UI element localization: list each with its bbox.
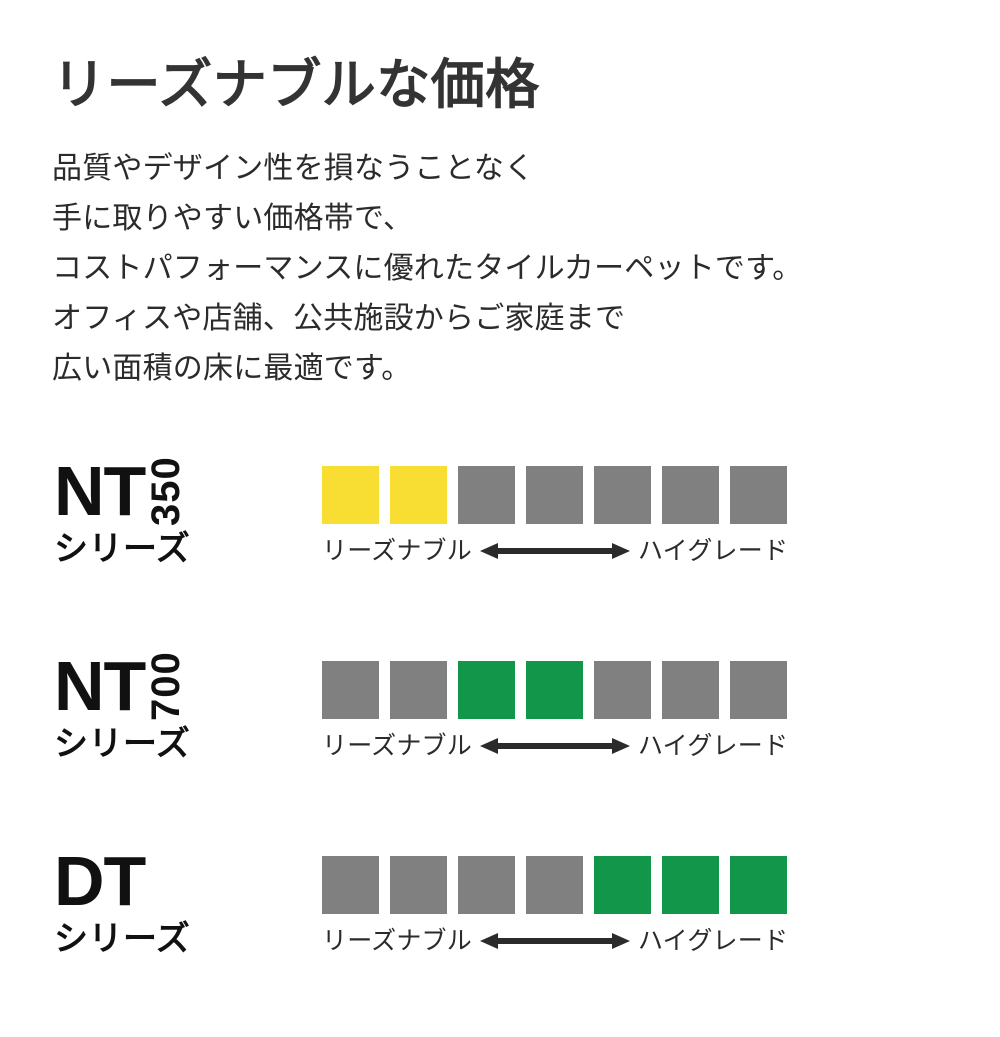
intro-block: リーズナブルな価格 品質やデザイン性を損なうことなく 手に取りやすい価格帯で、 … xyxy=(52,56,952,394)
swatch-cell xyxy=(730,661,787,719)
scale-left-label: リーズナブル xyxy=(322,925,472,957)
series-list: NT 350 シリーズ リーズナブル xyxy=(0,452,1000,1037)
swatch-strip xyxy=(322,856,792,914)
swatch-cell xyxy=(322,661,379,719)
series-name-wrap: DT xyxy=(54,842,145,914)
swatch-strip xyxy=(322,466,792,524)
promo-page: リーズナブルな価格 品質やデザイン性を損なうことなく 手に取りやすい価格帯で、 … xyxy=(0,0,1000,1000)
series-row-nt700: NT 700 シリーズ リーズナブル xyxy=(0,647,1000,842)
double-headed-arrow-icon xyxy=(480,540,630,562)
body-line: 品質やデザイン性を損なうことなく xyxy=(52,144,952,194)
swatch-cell xyxy=(594,856,651,914)
swatch-cell xyxy=(662,856,719,914)
series-code: NT xyxy=(54,653,145,719)
scale-right-label: ハイグレード xyxy=(638,730,788,762)
swatch-cell xyxy=(594,661,651,719)
body-line: コストパフォーマンスに優れたタイルカーペットです。 xyxy=(52,244,952,294)
body-copy: 品質やデザイン性を損なうことなく 手に取りやすい価格帯で、 コストパフォーマンス… xyxy=(52,144,952,394)
grade-scale-nt350: リーズナブル ハイグレード xyxy=(322,466,792,567)
series-label-nt350: NT 350 シリーズ xyxy=(54,452,304,577)
scale-caption: リーズナブル ハイグレード xyxy=(322,535,792,567)
series-label-nt700: NT 700 シリーズ xyxy=(54,647,304,772)
series-row-nt350: NT 350 シリーズ リーズナブル xyxy=(0,452,1000,647)
body-line: 広い面積の床に最適です。 xyxy=(52,344,952,394)
swatch-cell xyxy=(390,661,447,719)
swatch-cell xyxy=(526,466,583,524)
swatch-cell xyxy=(322,466,379,524)
series-sub-label: シリーズ xyxy=(54,723,190,765)
grade-scale-dt: リーズナブル ハイグレード xyxy=(322,856,792,957)
body-line: オフィスや店舗、公共施設からご家庭まで xyxy=(52,294,952,344)
grade-scale-nt700: リーズナブル ハイグレード xyxy=(322,661,792,762)
swatch-strip xyxy=(322,661,792,719)
scale-left-label: リーズナブル xyxy=(322,730,472,762)
page-title: リーズナブルな価格 xyxy=(52,56,952,114)
double-headed-arrow-icon xyxy=(480,735,630,757)
series-name-wrap: NT 350 xyxy=(54,452,186,524)
scale-caption: リーズナブル ハイグレード xyxy=(322,730,792,762)
swatch-cell xyxy=(390,856,447,914)
series-code: DT xyxy=(54,848,145,914)
series-row-dt: DT シリーズ リーズナブル xyxy=(0,842,1000,1037)
scale-right-label: ハイグレード xyxy=(638,535,788,567)
swatch-cell xyxy=(662,466,719,524)
scale-left-label: リーズナブル xyxy=(322,535,472,567)
series-number-rotated: 700 xyxy=(146,653,186,721)
swatch-cell xyxy=(594,466,651,524)
series-number-rotated: 350 xyxy=(146,458,186,526)
swatch-cell xyxy=(458,466,515,524)
swatch-cell xyxy=(526,661,583,719)
series-label-dt: DT シリーズ xyxy=(54,842,304,967)
scale-caption: リーズナブル ハイグレード xyxy=(322,925,792,957)
series-code: NT xyxy=(54,458,145,524)
series-name-wrap: NT 700 xyxy=(54,647,186,719)
body-line: 手に取りやすい価格帯で、 xyxy=(52,194,952,244)
swatch-cell xyxy=(662,661,719,719)
series-sub-label: シリーズ xyxy=(54,528,190,570)
swatch-cell xyxy=(730,466,787,524)
double-headed-arrow-icon xyxy=(480,930,630,952)
swatch-cell xyxy=(526,856,583,914)
scale-right-label: ハイグレード xyxy=(638,925,788,957)
swatch-cell xyxy=(322,856,379,914)
swatch-cell xyxy=(458,856,515,914)
series-sub-label: シリーズ xyxy=(54,918,190,960)
swatch-cell xyxy=(730,856,787,914)
swatch-cell xyxy=(390,466,447,524)
swatch-cell xyxy=(458,661,515,719)
